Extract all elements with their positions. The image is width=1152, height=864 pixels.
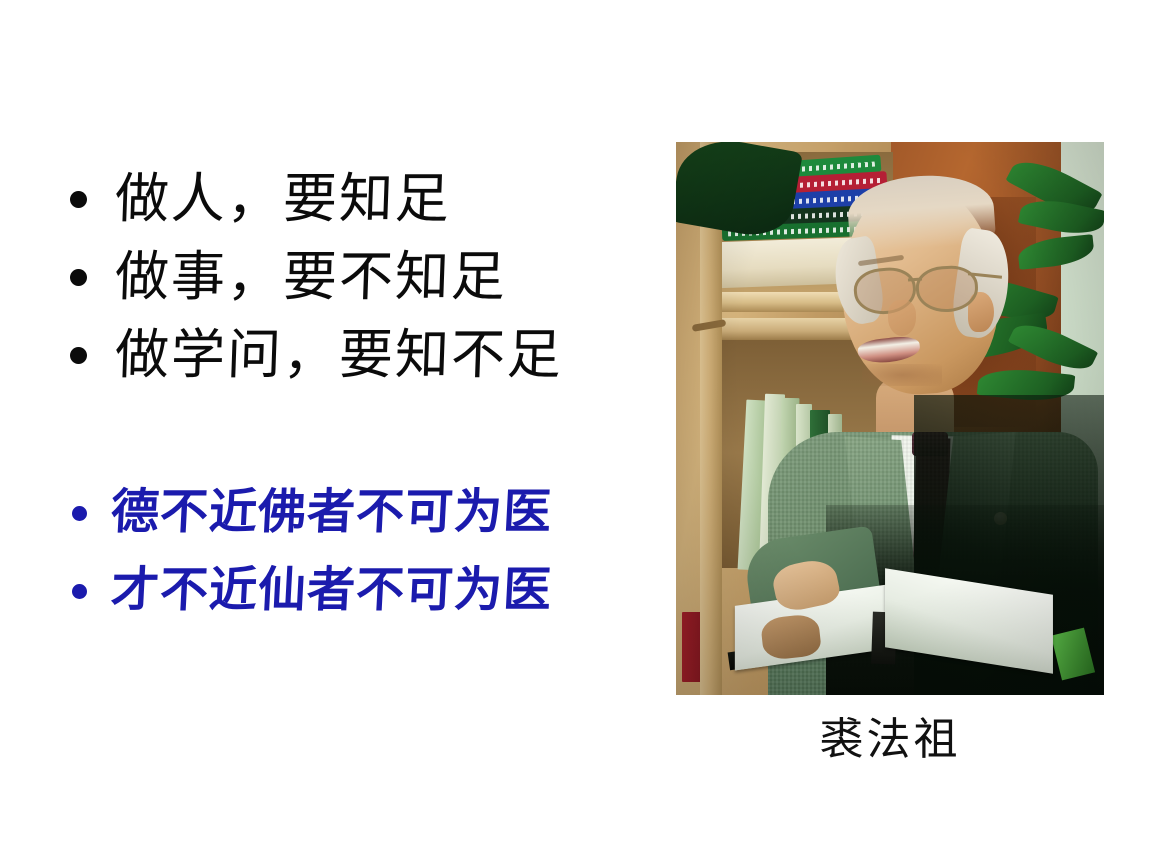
portrait-photo xyxy=(676,142,1104,695)
list-item: 才不近仙者不可为医 xyxy=(72,552,670,630)
list-item: 做人，要知足 xyxy=(70,160,670,238)
list-item: 做事，要不知足 xyxy=(70,238,670,316)
group-spacer xyxy=(70,394,670,474)
bullet-dot-icon xyxy=(72,506,87,521)
black-bullet-group: 做人，要知足 做事，要不知足 做学问，要知不足 xyxy=(70,160,670,394)
bullet-text: 德不近佛者不可为医 xyxy=(110,489,554,537)
slide-canvas: 做人，要知足 做事，要不知足 做学问，要知不足 德不近佛者不可为医 才不近仙者不… xyxy=(0,0,1152,864)
bullet-text: 做事，要不知足 xyxy=(114,250,508,304)
photo-frame xyxy=(676,142,1104,695)
photo-caption: 裘法祖 xyxy=(676,716,1104,764)
bullet-dot-icon xyxy=(70,191,87,208)
photo-person-nose xyxy=(888,300,916,336)
photo-person-chin-shadow xyxy=(862,364,942,386)
list-item: 做学问，要知不足 xyxy=(70,316,670,394)
bullet-text: 才不近仙者不可为医 xyxy=(110,567,554,615)
bullet-dot-icon xyxy=(70,269,87,286)
bullet-text: 做学问，要知不足 xyxy=(114,328,564,382)
bullet-text: 做人，要知足 xyxy=(114,172,452,226)
bullet-dot-icon xyxy=(72,584,87,599)
bullet-dot-icon xyxy=(70,347,87,364)
list-item: 德不近佛者不可为医 xyxy=(72,474,670,552)
blue-bullet-group: 德不近佛者不可为医 才不近仙者不可为医 xyxy=(72,474,670,630)
text-column: 做人，要知足 做事，要不知足 做学问，要知不足 德不近佛者不可为医 才不近仙者不… xyxy=(70,160,670,630)
